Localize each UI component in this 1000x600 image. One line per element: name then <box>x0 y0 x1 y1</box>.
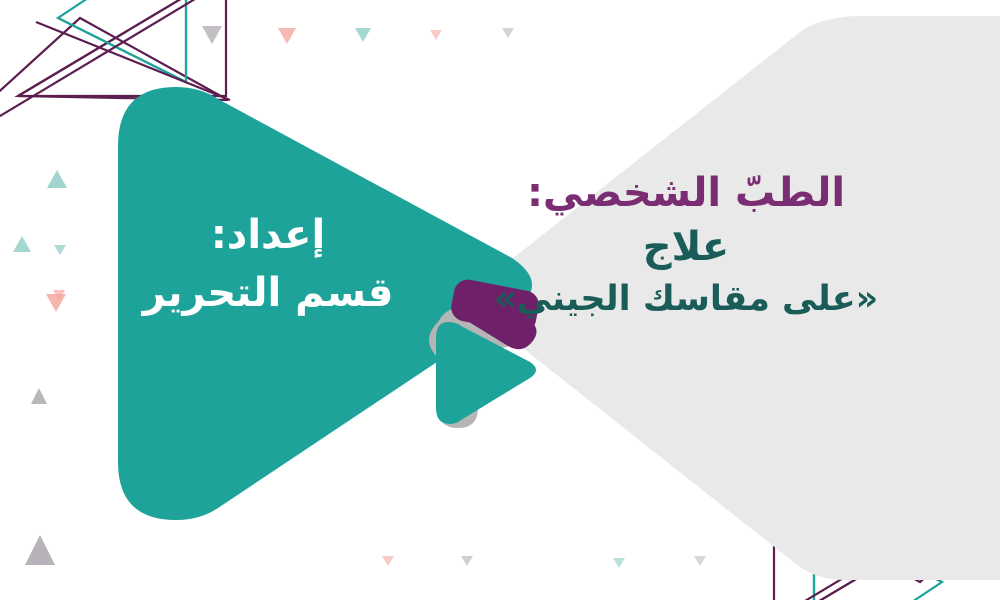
slide-canvas: الطبّ الشخصي: علاج «على مقاسك الجيني» إع… <box>0 0 1000 600</box>
play-button-logo <box>429 277 541 428</box>
logo-layer <box>0 0 1000 600</box>
